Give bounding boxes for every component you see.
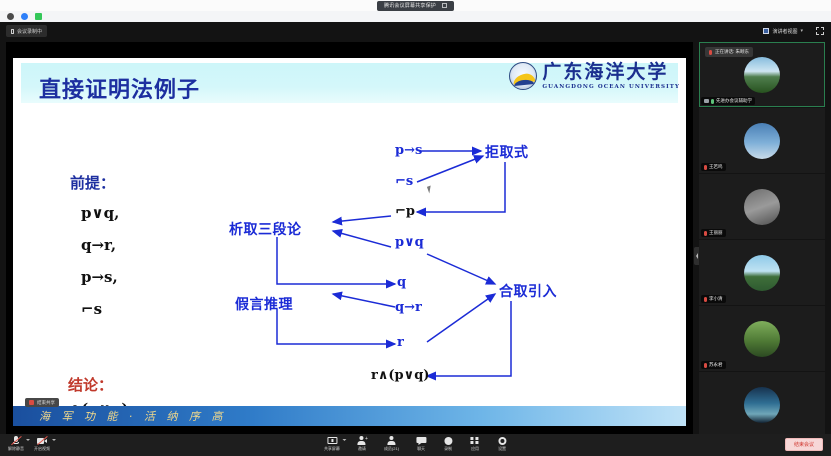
participant-name: 李小清 (709, 296, 723, 302)
speaker-view-icon (763, 28, 769, 34)
university-name-cn: 广东海洋大学 (542, 63, 668, 82)
record-button[interactable]: 录制 (443, 436, 453, 452)
microphone-muted-icon (704, 363, 707, 368)
diagram-node: p∨q (395, 235, 424, 250)
meeting-app-window: 腾讯会议屏幕共享保护 会议录制中 演讲者视图 ▾ (0, 0, 831, 456)
share-screen-button[interactable]: 共享屏幕 (324, 436, 340, 452)
apps-label: 应用 (471, 446, 479, 452)
restore-window-icon[interactable] (442, 3, 447, 8)
apps-button[interactable]: 应用 (470, 436, 480, 452)
university-crest-icon (509, 62, 537, 90)
window-title: 腾讯会议屏幕共享保护 (384, 2, 436, 9)
participant-name: 王若鸣 (709, 164, 723, 170)
chat-button[interactable]: 聊天 (416, 436, 426, 452)
avatar (744, 255, 780, 291)
chevron-down-icon: ▾ (800, 28, 803, 34)
settings-label: 设置 (498, 446, 506, 452)
camera-toggle-button[interactable]: 开启视频 (34, 436, 50, 452)
stop-share-tag[interactable]: 结束共享 (25, 398, 59, 407)
diagram-node: 合取引入 (499, 281, 557, 301)
participant-name: 先进办会议辅助学 (716, 98, 752, 104)
system-tray-strip (0, 11, 831, 22)
signal-icon[interactable] (35, 13, 42, 20)
window-title-pill: 腾讯会议屏幕共享保护 (377, 1, 454, 11)
participant-tile[interactable]: 正在讲话: 朱颐东 先进办会议辅助学 (699, 42, 825, 107)
participant-name-tag: 王丽丽 (701, 229, 726, 237)
os-title-bar: 腾讯会议屏幕共享保护 (0, 0, 831, 11)
microphone-muted-icon (704, 165, 707, 170)
participant-rail[interactable]: 正在讲话: 朱颐东 先进办会议辅助学 王若鸣 (699, 42, 825, 434)
stop-share-icon (29, 400, 34, 405)
university-logo: 广东海洋大学 GUANGDONG OCEAN UNIVERSITY (509, 62, 680, 90)
share-screen-label: 共享屏幕 (324, 446, 340, 452)
diagram-node: p→s (395, 143, 422, 158)
microphone-muted-icon (709, 50, 712, 55)
avatar (744, 123, 780, 159)
settings-icon[interactable] (7, 13, 14, 20)
diagram-node: 拒取式 (485, 142, 529, 162)
chat-icon (416, 436, 426, 445)
primary-controls: 共享屏幕 + 邀请 成员(21) (324, 436, 507, 452)
meeting-control-bar: 解除静音 开启视频 (0, 434, 831, 456)
chevron-up-icon[interactable] (52, 439, 56, 441)
record-label: 录制 (444, 446, 452, 452)
invite-icon: + (357, 436, 367, 445)
participant-tile[interactable]: 苏永君 (699, 306, 825, 371)
slide-body: 前提： p∨q, q→r, p→s, ⌐s 结论： r∧(p∨q) (13, 104, 686, 404)
camera-icon (704, 99, 709, 103)
speaking-label: 正在讲话: 朱颐东 (715, 49, 749, 55)
slide-footer-text: 海 军 功 能 · 活 纳 序 高 (39, 408, 226, 424)
av-controls: 解除静音 开启视频 (8, 436, 50, 452)
chat-label: 聊天 (417, 446, 425, 452)
collapse-rail-icon[interactable] (694, 247, 699, 265)
meeting-main: 会议录制中 演讲者视图 ▾ 直接证明法例子 (0, 22, 831, 456)
diagram-node: 析取三段论 (229, 219, 302, 239)
participant-name: 王丽丽 (709, 230, 723, 236)
microphone-muted-icon (11, 436, 21, 445)
microphone-muted-icon (704, 231, 707, 236)
participant-name-tag: 苏永君 (701, 361, 726, 369)
view-mode-switch[interactable]: 演讲者视图 ▾ (759, 25, 807, 37)
page-title: 直接证明法例子 (39, 72, 200, 104)
participant-tile[interactable]: 李小清 (699, 240, 825, 305)
chevron-up-icon[interactable] (26, 439, 30, 441)
speaking-indicator: 正在讲话: 朱颐东 (705, 47, 753, 57)
microphone-muted-icon (704, 297, 707, 302)
proof-diagram-arrows (13, 104, 686, 404)
share-screen-icon (327, 436, 337, 445)
diagram-node: ⌐p (395, 204, 415, 219)
slide-footer-band: 海 军 功 能 · 活 纳 序 高 结束共享 (13, 406, 686, 426)
participant-name-tag: 先进办会议辅助学 (701, 97, 755, 105)
camera-toggle-label: 开启视频 (34, 446, 50, 452)
diagram-node: r (397, 335, 404, 350)
participant-tile[interactable]: 王若鸣 (699, 108, 825, 173)
stop-share-label: 结束共享 (37, 400, 55, 406)
participants-button[interactable]: 成员(21) (384, 436, 399, 452)
participants-label: 成员(21) (384, 446, 399, 452)
participant-name-tag: 李小清 (701, 295, 726, 303)
diagram-node: ⌐s (395, 174, 413, 189)
camera-off-icon (37, 436, 47, 445)
recording-badge: 会议录制中 (6, 25, 47, 37)
microphone-icon (711, 99, 714, 104)
participant-tile[interactable] (699, 372, 825, 434)
avatar (744, 321, 780, 357)
diagram-node: q→r (395, 300, 422, 315)
settings-gear-icon (497, 436, 507, 445)
invite-label: 邀请 (358, 446, 366, 452)
meeting-top-bar: 会议录制中 演讲者视图 ▾ (0, 22, 831, 40)
end-meeting-label: 结束会议 (794, 441, 814, 448)
avatar (744, 57, 780, 93)
diagram-node: r∧(p∨q) (371, 368, 429, 383)
chevron-up-icon[interactable] (342, 439, 346, 441)
avatar (744, 387, 780, 423)
settings-button[interactable]: 设置 (497, 436, 507, 452)
invite-button[interactable]: + 邀请 (357, 436, 367, 452)
participant-name-tag: 王若鸣 (701, 163, 726, 171)
lock-icon (11, 29, 14, 34)
participants-icon (387, 436, 397, 445)
microphone-toggle-label: 解除静音 (8, 446, 24, 452)
powerpoint-slide: 直接证明法例子 广东海洋大学 GUANGDONG OCEAN UNIVERSIT… (13, 58, 686, 426)
recording-badge-label: 会议录制中 (17, 28, 42, 35)
record-icon (443, 436, 453, 445)
end-meeting-button[interactable]: 结束会议 (785, 438, 823, 451)
diagram-node: q (397, 275, 406, 290)
shared-screen-area[interactable]: 直接证明法例子 广东海洋大学 GUANGDONG OCEAN UNIVERSIT… (6, 42, 693, 434)
bluetooth-icon[interactable] (21, 13, 28, 20)
microphone-toggle-button[interactable]: 解除静音 (8, 436, 24, 452)
university-name-en: GUANGDONG OCEAN UNIVERSITY (542, 84, 680, 90)
view-mode-label: 演讲者视图 (772, 28, 797, 35)
avatar (744, 189, 780, 225)
participant-name: 苏永君 (709, 362, 723, 368)
diagram-node: 假言推理 (235, 294, 293, 314)
fullscreen-icon[interactable] (816, 27, 824, 35)
participant-tile[interactable]: 王丽丽 (699, 174, 825, 239)
apps-icon (470, 436, 480, 445)
